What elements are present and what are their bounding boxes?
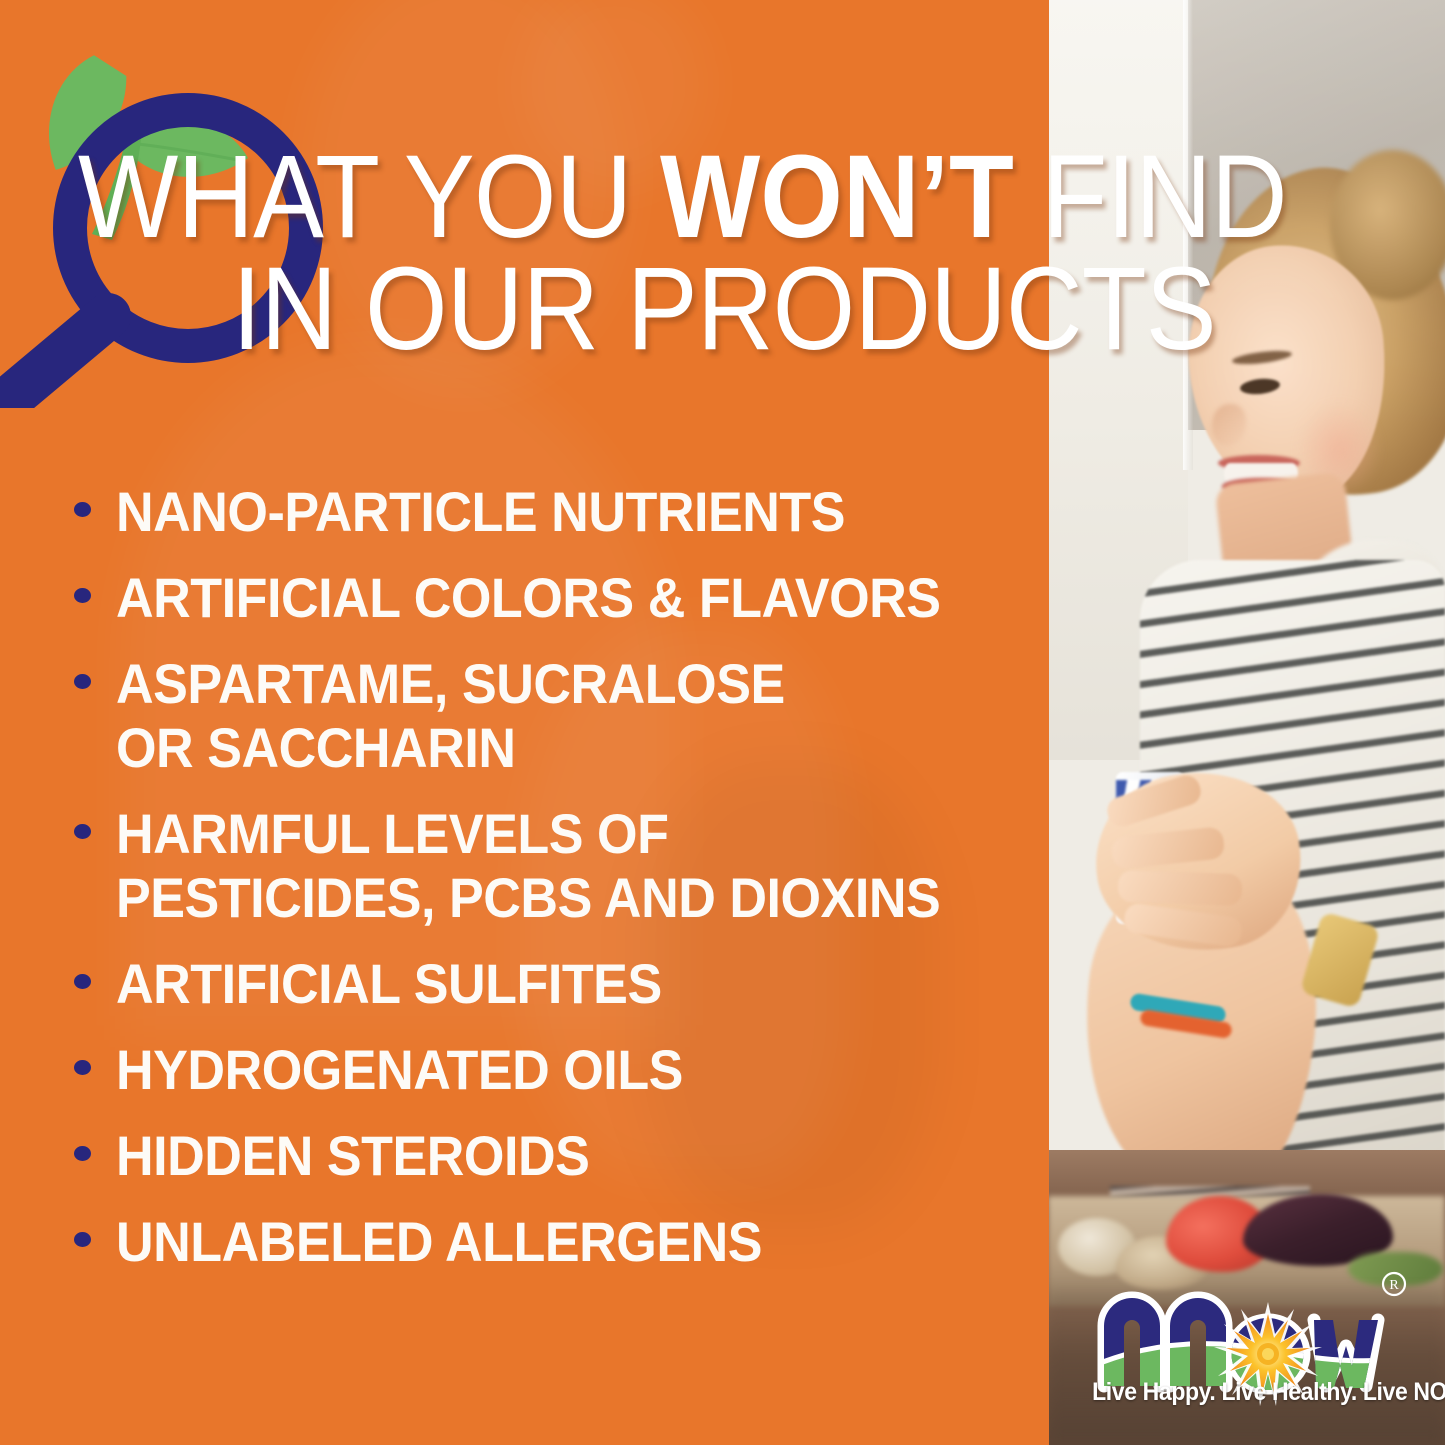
bullet-dot-icon (74, 588, 91, 603)
infographic-canvas: WHAT YOU WON’T FIND IN OUR PRODUCTS NANO… (0, 0, 1445, 1445)
list-item: HARMFUL LEVELS OF PESTICIDES, PCBS AND D… (68, 802, 1048, 930)
photo-wall-edge (1183, 0, 1193, 470)
photo-finger (1117, 870, 1242, 906)
bullet-dot-icon (74, 674, 91, 689)
list-item-label: HYDROGENATED OILS (116, 1038, 983, 1102)
ghost-silhouette-bun (520, 0, 710, 190)
magnifier-sprout-logo (0, 28, 340, 408)
list-item: ARTIFICIAL COLORS & FLAVORS (68, 566, 1048, 630)
bullet-dot-icon (74, 1060, 91, 1075)
list-item-label: HIDDEN STEROIDS (116, 1124, 983, 1188)
list-item-label: ASPARTAME, SUCRALOSE OR SACCHARIN (116, 652, 983, 780)
logo-tagline: Live Happy. Live Healthy. Live NOW. (1092, 1378, 1416, 1407)
list-item: UNLABELED ALLERGENS (68, 1210, 1048, 1274)
ghost-silhouette-head (300, 0, 630, 390)
list-item-label: NANO-PARTICLE NUTRIENTS (116, 480, 983, 544)
list-item: ASPARTAME, SUCRALOSE OR SACCHARIN (68, 652, 1048, 780)
bullet-dot-icon (74, 974, 91, 989)
bullet-dot-icon (74, 1146, 91, 1161)
list-item: ARTIFICIAL SULFITES (68, 952, 1048, 1016)
exclusions-list: NANO-PARTICLE NUTRIENTS ARTIFICIAL COLOR… (68, 480, 1048, 1296)
list-item-label: ARTIFICIAL COLORS & FLAVORS (116, 566, 983, 630)
bullet-dot-icon (74, 824, 91, 839)
bullet-dot-icon (74, 1232, 91, 1247)
list-item-label: ARTIFICIAL SULFITES (116, 952, 983, 1016)
list-item-label: HARMFUL LEVELS OF PESTICIDES, PCBS AND D… (116, 802, 983, 930)
list-item: NANO-PARTICLE NUTRIENTS (68, 480, 1048, 544)
registered-trademark-icon: R (1383, 1273, 1405, 1295)
svg-text:R: R (1389, 1278, 1399, 1293)
bullet-dot-icon (74, 502, 91, 517)
list-item-label: UNLABELED ALLERGENS (116, 1210, 983, 1274)
list-item: HIDDEN STEROIDS (68, 1124, 1048, 1188)
list-item: HYDROGENATED OILS (68, 1038, 1048, 1102)
